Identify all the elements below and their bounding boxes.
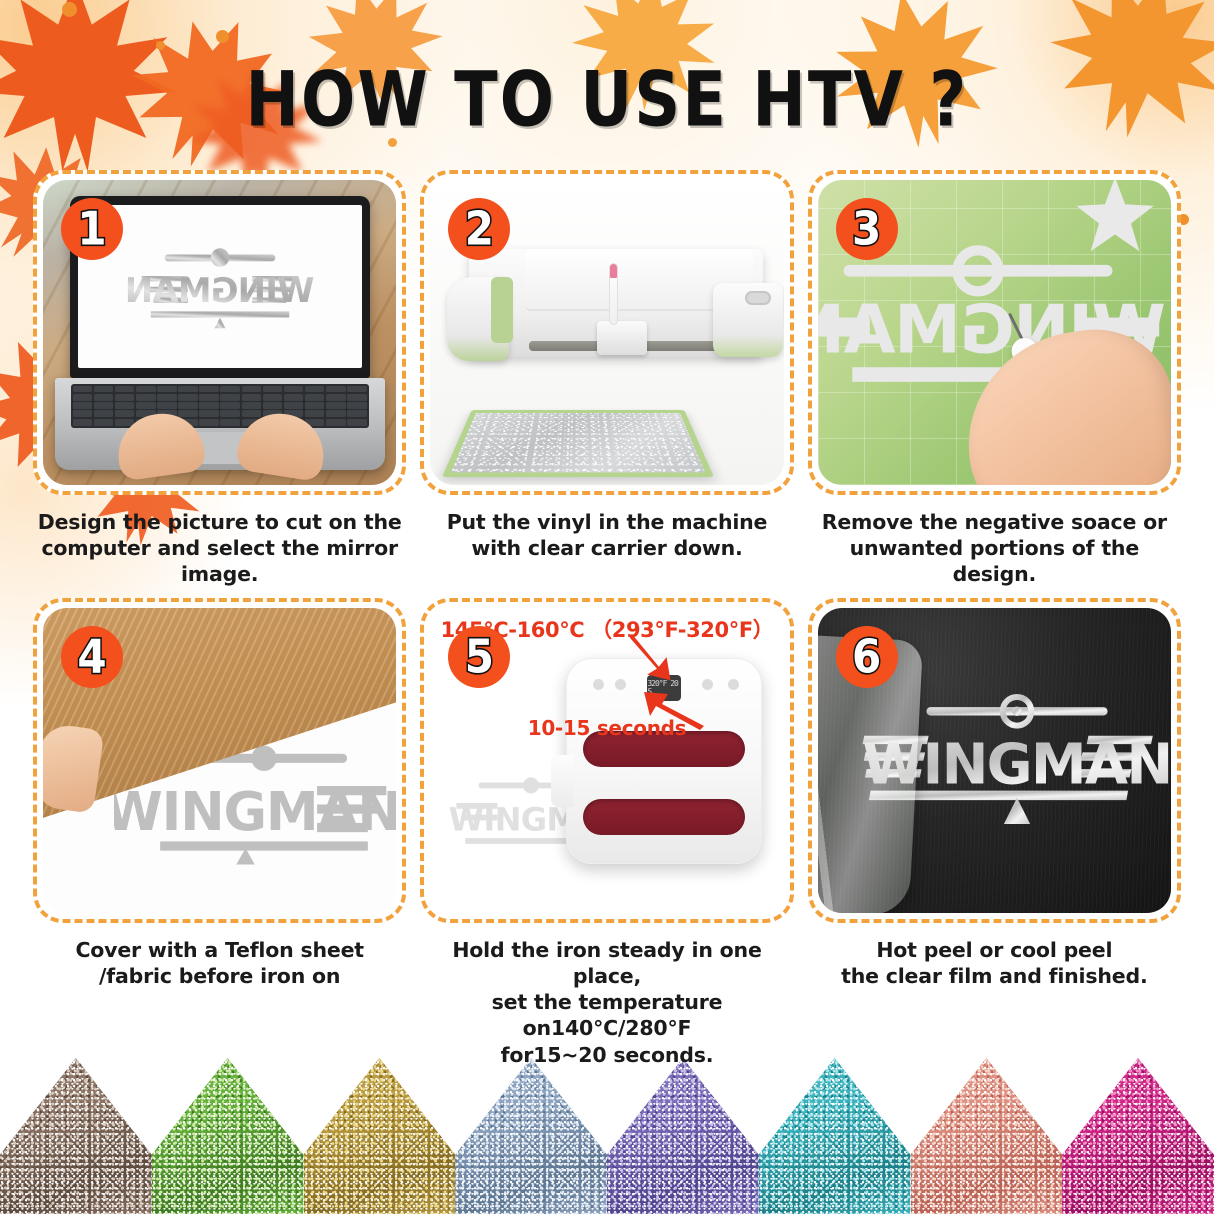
step-1-panel: WINGMAN: [33, 170, 406, 495]
step-5: 145℃-160℃ （293°F-320°F） WINGMAN: [420, 598, 793, 1068]
swatch-silver-blue-glitter: [455, 1058, 607, 1214]
page-title-wrap: HOW TO USE HTV ?: [0, 62, 1214, 124]
swatch-teal-glitter: [759, 1058, 911, 1214]
swatch-green-glitter: [152, 1058, 304, 1214]
step-1-caption: Design the picture to cut on the compute…: [33, 509, 406, 588]
press-power-button: [593, 679, 604, 690]
step-5-caption: Hold the iron steady in one place, set t…: [420, 937, 793, 1068]
step-3-image: WINGMAN 3: [818, 180, 1171, 485]
step-6-image: WINGMAN 6: [818, 608, 1171, 913]
step-4-panel: WINGMAN 4: [33, 598, 406, 923]
press-down-button: [615, 679, 626, 690]
step-3-panel: WINGMAN 3: [808, 170, 1181, 495]
laptop-base: [55, 378, 385, 470]
step-6-number: 6: [852, 634, 881, 680]
step-6-badge: 6: [836, 626, 898, 688]
step-5-badge: 5: [448, 626, 510, 688]
glitter-vinyl-sheet: [451, 413, 705, 472]
step-3-badge: 3: [836, 198, 898, 260]
swatch-triangle: [304, 1058, 456, 1214]
swatch-gold-glitter: [304, 1058, 456, 1214]
cutting-machine-illustration: [447, 239, 767, 389]
step-5-panel: 145℃-160℃ （293°F-320°F） WINGMAN: [420, 598, 793, 923]
steps-grid: WINGMAN: [33, 170, 1181, 1068]
glitter-color-swatches: [0, 1058, 1214, 1214]
arrow-to-heating-bar: [638, 684, 708, 732]
confetti-dot: [156, 41, 165, 50]
swatch-brown-glitter: [0, 1058, 152, 1214]
press-timer-button: [728, 679, 739, 690]
step-4-image: WINGMAN 4: [43, 608, 396, 913]
step-4-caption: Cover with a Teflon sheet /fabric before…: [33, 937, 406, 989]
swatch-purple-glitter: [607, 1058, 759, 1214]
step-3: WINGMAN 3 Remove the negative soace or u…: [808, 170, 1181, 588]
step-2: 2 Put the vinyl in the machine with clea…: [420, 170, 793, 588]
step-5-image: 145℃-160℃ （293°F-320°F） WINGMAN: [430, 608, 783, 913]
press-handle: [551, 755, 573, 807]
step-2-number: 2: [465, 206, 494, 252]
swatch-triangle: [455, 1058, 607, 1214]
step-4-number: 4: [77, 634, 106, 680]
step-3-number: 3: [852, 206, 881, 252]
svg-text:WINGMAN: WINGMAN: [114, 781, 396, 843]
wingman-logo-mirrored: WINGMAN: [120, 243, 320, 329]
step-1-number: 1: [77, 206, 106, 252]
step-2-caption: Put the vinyl in the machine with clear …: [420, 509, 793, 561]
swatch-triangle: [759, 1058, 911, 1214]
swatch-triangle: [911, 1058, 1063, 1214]
machine-left-housing: [447, 277, 509, 361]
swatch-magenta-glitter: [1062, 1058, 1214, 1214]
heating-bar-bottom: [583, 799, 745, 835]
machine-dial: [745, 291, 771, 305]
step-1-badge: 1: [61, 198, 123, 260]
swatch-coral-glitter: [911, 1058, 1063, 1214]
step-6-caption: Hot peel or cool peel the clear film and…: [808, 937, 1181, 989]
swatch-triangle: [152, 1058, 304, 1214]
step-2-badge: 2: [448, 198, 510, 260]
arrow-to-display: [626, 630, 684, 686]
step-6-panel: WINGMAN 6: [808, 598, 1181, 923]
step-4: WINGMAN 4 Cover with a Teflon sheet /fab…: [33, 598, 406, 1068]
page-title: HOW TO USE HTV ?: [246, 62, 969, 138]
step-1: WINGMAN: [33, 170, 406, 588]
machine-pen: [609, 263, 618, 325]
step-2-image: 2: [430, 180, 783, 485]
machine-carriage: [597, 321, 647, 355]
step-4-badge: 4: [61, 626, 123, 688]
swatch-triangle: [607, 1058, 759, 1214]
svg-text:WINGMAN: WINGMAN: [125, 271, 314, 310]
step-2-panel: 2: [420, 170, 793, 495]
swatch-triangle: [0, 1058, 152, 1214]
cutting-mat: [442, 410, 714, 477]
step-3-caption: Remove the negative soace or unwanted po…: [808, 509, 1181, 588]
confetti-dot: [62, 2, 77, 17]
laptop-keyboard: [71, 384, 369, 428]
step-1-image: WINGMAN: [43, 180, 396, 485]
swatch-triangle: [1062, 1058, 1214, 1214]
confetti-dot: [216, 30, 229, 43]
machine-right-housing: [713, 283, 783, 357]
step-5-number: 5: [465, 634, 494, 680]
step-6: WINGMAN 6 Hot peel or cool peel the clea…: [808, 598, 1181, 1068]
